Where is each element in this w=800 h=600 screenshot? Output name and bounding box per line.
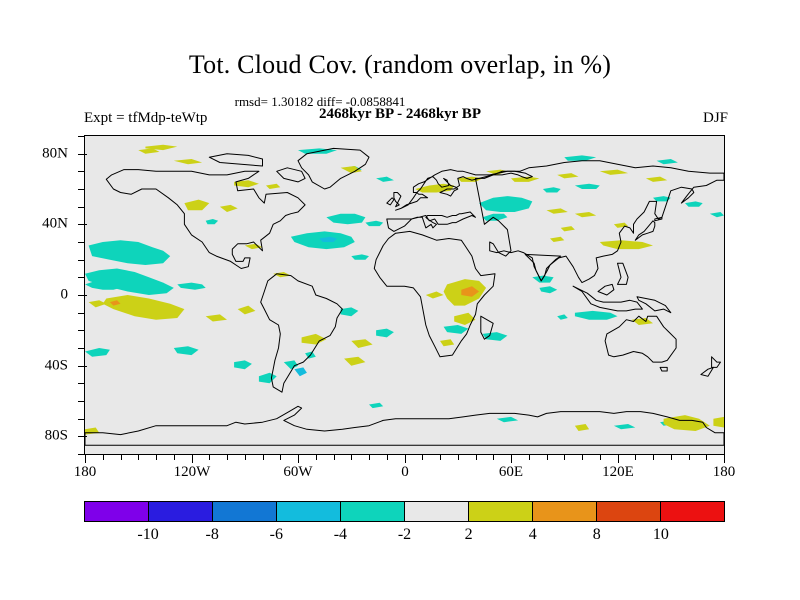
- colorbar-label: -10: [137, 526, 158, 544]
- colorbar-label: 4: [529, 526, 537, 544]
- contour-region: [543, 187, 561, 192]
- colorbar-band: [532, 502, 596, 521]
- x-tick: [351, 454, 352, 460]
- contour-region: [575, 184, 600, 189]
- contour-region: [575, 424, 589, 431]
- y-tick: [78, 419, 84, 420]
- colorbar-band: [596, 502, 660, 521]
- contour-region: [483, 332, 508, 341]
- y-tick: [78, 383, 84, 384]
- contour-region: [547, 208, 568, 213]
- x-tick: [724, 454, 725, 463]
- period-annotation: 2468kyr BP - 2468kyr BP: [190, 106, 610, 123]
- y-tick: [78, 154, 87, 155]
- colorbar-label: -6: [270, 526, 283, 544]
- x-tick: [529, 454, 530, 460]
- x-tick: [280, 454, 281, 460]
- contour-region: [341, 166, 362, 173]
- x-tick: [564, 454, 565, 460]
- y-tick: [78, 136, 84, 137]
- y-axis-label: 40S: [8, 358, 68, 375]
- coastline-path: [637, 297, 671, 313]
- colorbar-label: -2: [398, 526, 411, 544]
- contour-region: [497, 417, 518, 422]
- coastline-path: [701, 367, 714, 376]
- contour-region: [657, 159, 678, 164]
- x-tick: [671, 454, 672, 460]
- x-tick: [316, 454, 317, 460]
- contour-region: [206, 314, 227, 321]
- x-tick: [706, 454, 707, 460]
- coastline-path: [660, 367, 667, 371]
- contour-region: [85, 348, 110, 357]
- contour-region: [539, 286, 557, 293]
- contour-region: [483, 214, 508, 221]
- colorbar-label: 8: [593, 526, 601, 544]
- contour-region: [444, 325, 469, 334]
- y-tick: [78, 401, 84, 402]
- colorbar-label: -4: [334, 526, 347, 544]
- y-axis-label: 0: [8, 287, 68, 304]
- colorbar-band: [468, 502, 532, 521]
- coastline-path: [209, 154, 262, 166]
- colorbar: -10-8-6-4-224810: [84, 501, 725, 522]
- x-tick: [121, 454, 122, 460]
- x-tick: [298, 454, 299, 463]
- contour-region: [369, 403, 383, 408]
- x-tick: [209, 454, 210, 460]
- contour-region: [85, 428, 99, 435]
- x-tick: [138, 454, 139, 460]
- contour-region: [426, 292, 444, 299]
- y-tick: [78, 366, 87, 367]
- x-axis-label: 180: [74, 464, 97, 481]
- x-axis-label: 0: [401, 464, 409, 481]
- x-tick: [458, 454, 459, 460]
- y-tick: [78, 189, 84, 190]
- y-tick: [78, 171, 84, 172]
- y-axis-label: 80N: [8, 146, 68, 163]
- contour-region: [174, 346, 199, 355]
- y-tick: [78, 277, 84, 278]
- x-tick: [103, 454, 104, 460]
- contour-region: [440, 339, 454, 346]
- contour-region: [376, 177, 394, 182]
- season-annotation: DJF: [703, 110, 728, 127]
- contour-region: [710, 212, 724, 217]
- x-tick: [493, 454, 494, 460]
- coastline-path: [277, 168, 305, 182]
- contour-region: [550, 237, 564, 242]
- x-axis-label: 120E: [602, 464, 634, 481]
- map-canvas: [85, 136, 724, 454]
- x-tick: [440, 454, 441, 460]
- contour-region: [557, 314, 568, 319]
- contour-region: [177, 283, 205, 290]
- x-tick: [334, 454, 335, 460]
- y-tick: [78, 260, 84, 261]
- x-tick: [511, 454, 512, 463]
- y-tick: [78, 313, 84, 314]
- x-tick: [476, 454, 477, 460]
- x-tick: [263, 454, 264, 460]
- contour-region: [220, 205, 238, 212]
- x-tick: [156, 454, 157, 460]
- colorbar-label: -8: [206, 526, 219, 544]
- y-tick: [78, 330, 84, 331]
- x-tick: [192, 454, 193, 463]
- x-tick: [387, 454, 388, 460]
- coastline-layer: [85, 148, 724, 445]
- coastline-path: [573, 286, 642, 311]
- x-tick: [422, 454, 423, 460]
- y-axis-label: 80S: [8, 428, 68, 445]
- coastline-path: [387, 212, 476, 231]
- coastline-path: [387, 198, 394, 205]
- contour-region: [344, 357, 365, 366]
- coastline-path: [618, 263, 629, 284]
- x-tick: [618, 454, 619, 463]
- contour-region: [600, 170, 628, 175]
- colorbar-bands: [84, 501, 725, 522]
- contour-shading-layer: [85, 145, 724, 435]
- x-tick: [600, 454, 601, 460]
- x-tick: [245, 454, 246, 460]
- contour-region: [600, 240, 653, 249]
- contour-region: [646, 177, 667, 182]
- contour-region: [294, 367, 307, 376]
- coastline-path: [712, 357, 721, 368]
- coastline-path: [394, 193, 401, 207]
- experiment-annotation: Expt = tfMdp-teWtp: [84, 110, 207, 127]
- x-tick: [85, 454, 86, 463]
- climate-difference-map-figure: Tot. Cloud Cov. (random overlap, in %) r…: [0, 0, 800, 600]
- y-tick: [78, 295, 87, 296]
- contour-region: [376, 329, 394, 338]
- x-tick: [635, 454, 636, 460]
- contour-region: [564, 155, 596, 160]
- contour-region: [713, 417, 724, 428]
- contour-region: [561, 226, 575, 231]
- contour-region: [89, 300, 107, 307]
- coastline-path: [635, 221, 655, 240]
- contour-region: [341, 307, 359, 316]
- x-tick: [405, 454, 406, 463]
- contour-region: [454, 313, 475, 325]
- colorbar-label: 10: [653, 526, 669, 544]
- contour-region: [259, 373, 277, 384]
- x-axis-label: 60W: [283, 464, 312, 481]
- y-tick: [78, 224, 87, 225]
- contour-region: [184, 200, 209, 211]
- colorbar-band: [404, 502, 468, 521]
- contour-region: [575, 212, 596, 217]
- colorbar-band: [148, 502, 212, 521]
- x-tick: [653, 454, 654, 460]
- x-tick: [547, 454, 548, 460]
- y-tick: [78, 348, 84, 349]
- contour-region: [351, 339, 372, 348]
- contour-region: [103, 295, 185, 320]
- contour-region: [174, 159, 202, 164]
- x-axis-label: 120W: [174, 464, 211, 481]
- colorbar-band: [660, 502, 724, 521]
- coastline-path: [298, 148, 369, 189]
- contour-region: [365, 221, 383, 226]
- colorbar-band: [340, 502, 404, 521]
- y-axis-label: 40N: [8, 216, 68, 233]
- contour-region: [685, 201, 703, 206]
- contour-region: [234, 360, 252, 369]
- map-plot-area: [84, 135, 725, 455]
- y-tick: [78, 436, 87, 437]
- contour-region: [89, 240, 171, 265]
- x-tick: [689, 454, 690, 460]
- x-tick: [582, 454, 583, 460]
- coastline-path: [598, 284, 614, 295]
- x-axis-label: 180: [713, 464, 736, 481]
- contour-region: [266, 184, 280, 189]
- colorbar-label: 2: [465, 526, 473, 544]
- colorbar-band: [85, 502, 148, 521]
- x-tick: [227, 454, 228, 460]
- contour-region: [614, 424, 635, 429]
- page-title: Tot. Cloud Cov. (random overlap, in %): [0, 50, 800, 80]
- contour-region: [557, 173, 578, 178]
- contour-region: [479, 196, 532, 212]
- contour-region: [206, 219, 218, 224]
- contour-region: [575, 311, 618, 320]
- x-tick: [369, 454, 370, 460]
- colorbar-band: [212, 502, 276, 521]
- y-tick: [78, 454, 84, 455]
- x-axis-label: 60E: [499, 464, 523, 481]
- contour-region: [326, 214, 365, 225]
- contour-region: [351, 254, 369, 259]
- contour-region: [614, 223, 628, 228]
- x-tick: [174, 454, 175, 460]
- y-tick: [78, 207, 84, 208]
- y-tick: [78, 242, 84, 243]
- colorbar-band: [276, 502, 340, 521]
- contour-region: [238, 306, 256, 315]
